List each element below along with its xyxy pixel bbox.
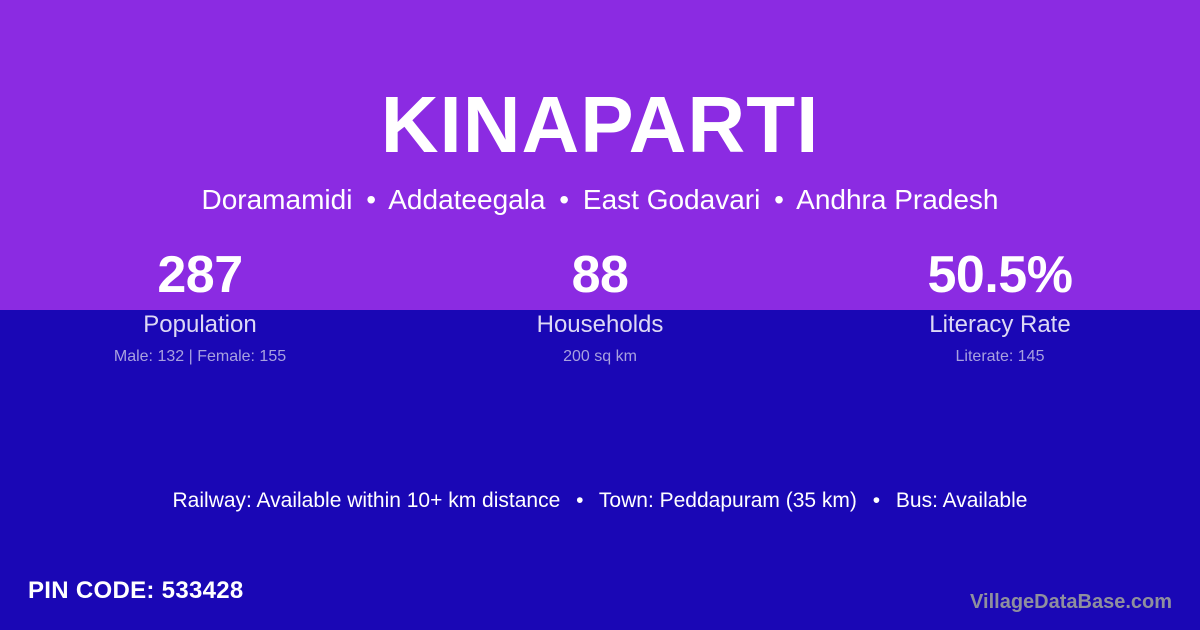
stat-label: Literacy Rate [800, 311, 1200, 339]
amenity-bus: Bus: Available [896, 489, 1028, 512]
stat-label: Population [0, 311, 400, 339]
village-info-card: KINAPARTI Doramamidi • Addateegala • Eas… [0, 0, 1200, 630]
amenity-separator-icon: • [566, 489, 593, 512]
stats-row: 287 Population Male: 132 | Female: 155 8… [0, 246, 1200, 367]
breadcrumb-separator-icon: • [768, 184, 790, 215]
stat-label: Households [400, 311, 800, 339]
stat-population: 287 Population Male: 132 | Female: 155 [0, 246, 400, 367]
breadcrumb: Doramamidi • Addateegala • East Godavari… [0, 182, 1200, 218]
breadcrumb-separator-icon: • [360, 184, 382, 215]
amenities-line: Railway: Available within 10+ km distanc… [0, 487, 1200, 515]
stat-literacy-rate: 50.5% Literacy Rate Literate: 145 [800, 246, 1200, 367]
amenity-separator-icon: • [863, 489, 890, 512]
pin-code: PIN CODE: 533428 [28, 576, 244, 606]
breadcrumb-item-panchayat: Doramamidi [201, 184, 352, 215]
stat-value: 50.5% [800, 246, 1200, 304]
page-title: KINAPARTI [0, 82, 1200, 168]
stat-sublabel: Literate: 145 [800, 347, 1200, 367]
breadcrumb-item-state: Andhra Pradesh [796, 184, 998, 215]
stat-value: 287 [0, 246, 400, 304]
amenity-railway: Railway: Available within 10+ km distanc… [173, 489, 561, 512]
stat-households: 88 Households 200 sq km [400, 246, 800, 367]
stat-sublabel: Male: 132 | Female: 155 [0, 347, 400, 367]
breadcrumb-separator-icon: • [553, 184, 575, 215]
site-brand: VillageDataBase.com [970, 589, 1172, 615]
stat-sublabel: 200 sq km [400, 347, 800, 367]
stat-value: 88 [400, 246, 800, 304]
breadcrumb-item-district: East Godavari [583, 184, 760, 215]
breadcrumb-item-mandal: Addateegala [388, 184, 545, 215]
amenity-town: Town: Peddapuram (35 km) [599, 489, 857, 512]
